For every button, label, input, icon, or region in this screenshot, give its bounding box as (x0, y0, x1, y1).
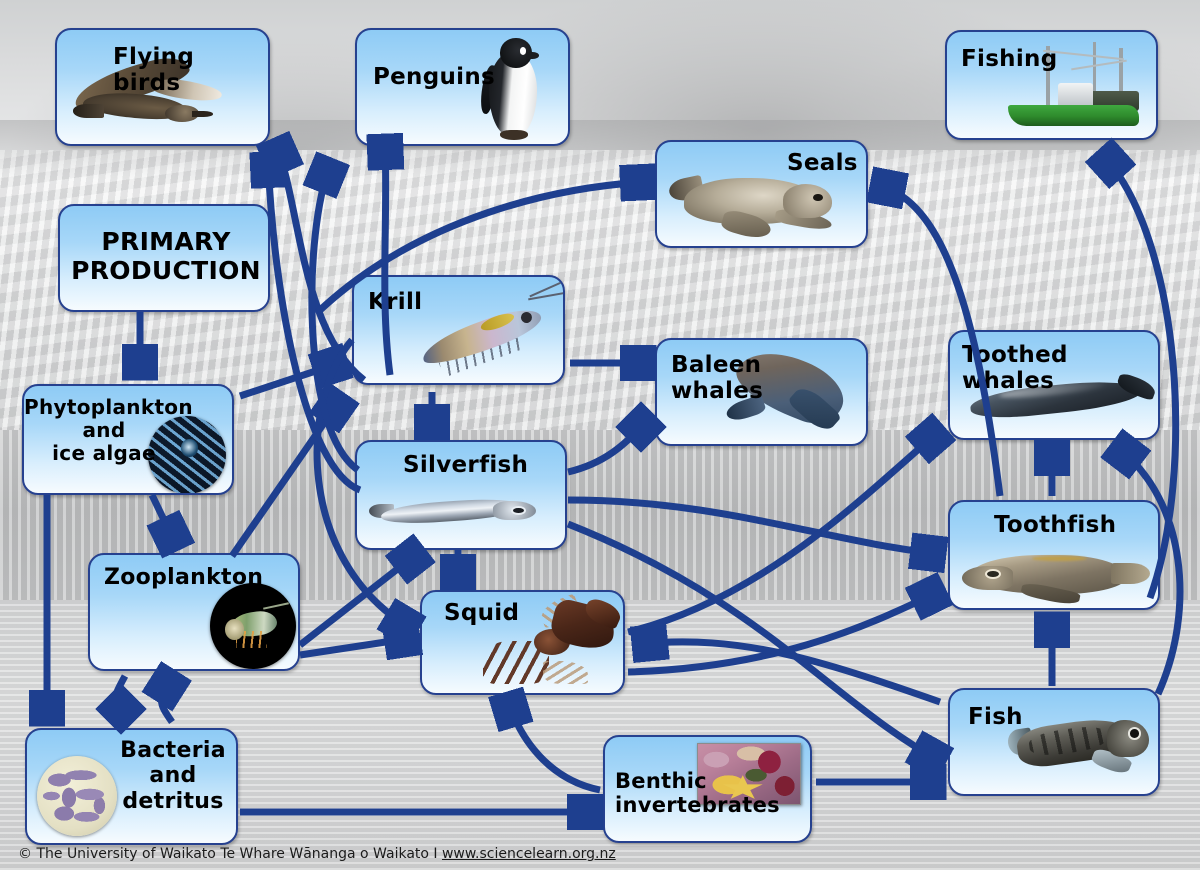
node-label-primary-production: PRIMARY PRODUCTION (60, 228, 270, 286)
node-baleen-whales[interactable]: Baleen whales (655, 338, 868, 446)
node-benthic-invertebrates[interactable]: Benthic invertebrates (603, 735, 812, 843)
node-flying-birds[interactable]: Flying birds (55, 28, 270, 146)
node-toothfish[interactable]: Toothfish (948, 500, 1160, 610)
node-seals[interactable]: Seals (655, 140, 868, 248)
icefish-photo (1008, 698, 1158, 790)
node-label-toothed-whales: Toothed whales (962, 342, 1158, 395)
node-label-zooplankton: Zooplankton (104, 565, 263, 590)
node-zooplankton[interactable]: Zooplankton (88, 553, 300, 671)
node-silverfish[interactable]: Silverfish (355, 440, 567, 550)
toothfish-photo (958, 538, 1154, 608)
node-label-seals: Seals (787, 150, 858, 176)
footer-copyright-text: © The University of Waikato Te Whare Wān… (18, 846, 442, 862)
node-label-bacteria-detritus: Bacteria and detritus (111, 738, 235, 814)
footer-url-link[interactable]: www.sciencelearn.org.nz (442, 846, 616, 862)
node-toothed-whales[interactable]: Toothed whales (948, 330, 1160, 440)
bacteria-photo (37, 756, 117, 836)
node-fishing[interactable]: Fishing (945, 30, 1158, 140)
copepod-photo (210, 583, 296, 669)
node-krill[interactable]: Krill (352, 275, 565, 385)
footer-credit: © The University of Waikato Te Whare Wān… (18, 846, 616, 862)
node-label-baleen-whales: Baleen whales (671, 352, 763, 405)
node-label-toothfish: Toothfish (994, 512, 1116, 538)
node-squid[interactable]: Squid (420, 590, 625, 695)
node-penguins[interactable]: Penguins (355, 28, 570, 146)
node-bacteria-detritus[interactable]: Bacteria and detritus (25, 728, 238, 845)
node-fish[interactable]: Fish (948, 688, 1160, 796)
node-label-squid: Squid (444, 600, 519, 626)
food-web-diagram: Flying birds Penguins Fishing Seals (0, 0, 1200, 870)
silverfish-photo (367, 484, 547, 542)
node-label-krill: Krill (368, 289, 422, 315)
node-label-benthic-invertebrates: Benthic invertebrates (615, 769, 780, 817)
krill-photo (406, 281, 565, 383)
node-phytoplankton[interactable]: Phytoplankton and ice algae (22, 384, 234, 495)
node-label-phytoplankton: Phytoplankton and ice algae (24, 396, 184, 465)
node-label-silverfish: Silverfish (403, 452, 528, 478)
node-primary-production[interactable]: PRIMARY PRODUCTION (58, 204, 270, 312)
node-label-penguins: Penguins (373, 64, 495, 90)
node-label-fishing: Fishing (961, 46, 1057, 72)
node-label-fish: Fish (968, 704, 1023, 730)
node-label-flying-birds: Flying birds (113, 44, 268, 97)
